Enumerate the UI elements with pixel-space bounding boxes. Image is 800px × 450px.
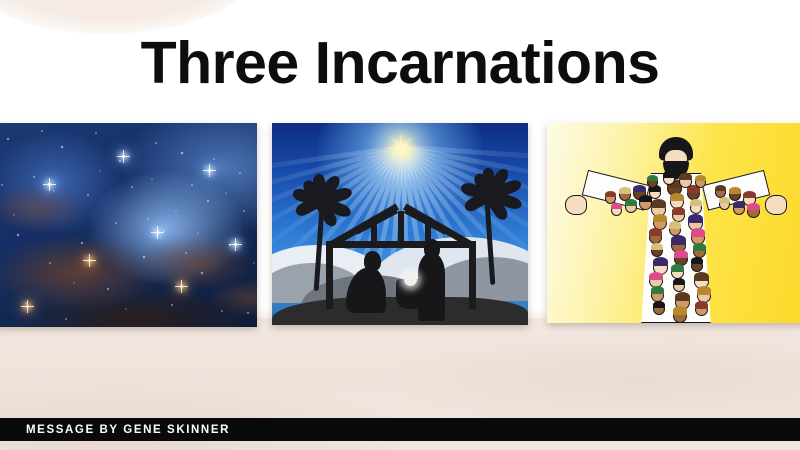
crowd-face-hair (715, 185, 726, 192)
star-of-bethlehem-icon (388, 135, 414, 161)
body-of-christ-illustration (547, 123, 800, 323)
crowd-face-hair (651, 286, 664, 294)
crowd-face-hair (671, 264, 684, 272)
bright-star-icon (26, 305, 29, 308)
crowd-face-hair (673, 306, 687, 315)
footer-bar: MESSAGE BY GENE SKINNER (0, 418, 800, 441)
crowd-face-hair (653, 301, 665, 308)
crowd-face-hair (633, 185, 646, 193)
christ-figure (547, 123, 800, 323)
crowd-face-hair (694, 272, 709, 281)
slide-title: Three Incarnations (0, 32, 800, 94)
crowd-face-hair (695, 175, 706, 182)
crowd-face-hair (695, 301, 708, 309)
crowd-face-hair (729, 187, 741, 194)
crowd-face-hair (719, 197, 730, 204)
bright-star-icon (156, 231, 159, 234)
right-hand (765, 195, 787, 215)
crowd-face-hair (649, 272, 663, 281)
crowd-face-hair (671, 235, 686, 244)
crowd-face-hair (651, 199, 666, 208)
crowd-face-hair (693, 243, 706, 251)
presentation-slide: Three Incarnations (0, 0, 800, 450)
galaxy-nebula-photo (0, 123, 257, 327)
speaker-credit: MESSAGE BY GENE SKINNER (26, 424, 230, 436)
crowd-face-hair (605, 191, 616, 198)
bright-star-icon (88, 259, 91, 262)
crowd-face-hair (691, 257, 703, 264)
nativity-painting (272, 123, 528, 325)
crowd-face-hair (672, 207, 685, 215)
crowd-face-hair (697, 286, 711, 295)
left-hand (565, 195, 587, 215)
crowd-face-hair (611, 203, 622, 210)
crowd-face-hair (619, 187, 631, 194)
galaxy-starfield (0, 123, 257, 327)
bright-star-icon (180, 285, 183, 288)
bright-star-icon (122, 155, 125, 158)
crowd-face-hair (625, 199, 637, 206)
crowd-face-hair (651, 243, 663, 250)
crowd-face-hair (690, 199, 702, 206)
crowd-face-hair (653, 257, 668, 266)
crowd-face-hair (733, 201, 745, 208)
crowd-face-hair (653, 214, 667, 223)
crowd-face-hair (673, 278, 685, 285)
crowd-face-hair (675, 292, 690, 301)
bright-star-icon (234, 243, 237, 246)
crowd-face-hair (649, 228, 662, 236)
crowd-face-hair (691, 228, 705, 237)
bright-star-icon (208, 169, 211, 172)
crowd-face-hair (669, 221, 681, 228)
crowd-face-hair (747, 203, 760, 211)
crowd-face-hair (743, 191, 756, 199)
crowd-face-hair (647, 175, 658, 182)
crowd-face-hair (674, 250, 688, 259)
bright-star-icon (48, 183, 51, 186)
crowd-face-hair (639, 195, 652, 203)
crowd-face-hair (670, 193, 684, 202)
crowd-face-hair (663, 171, 675, 178)
crowd-face-hair (688, 214, 703, 223)
crowd-face-hair (679, 173, 692, 181)
